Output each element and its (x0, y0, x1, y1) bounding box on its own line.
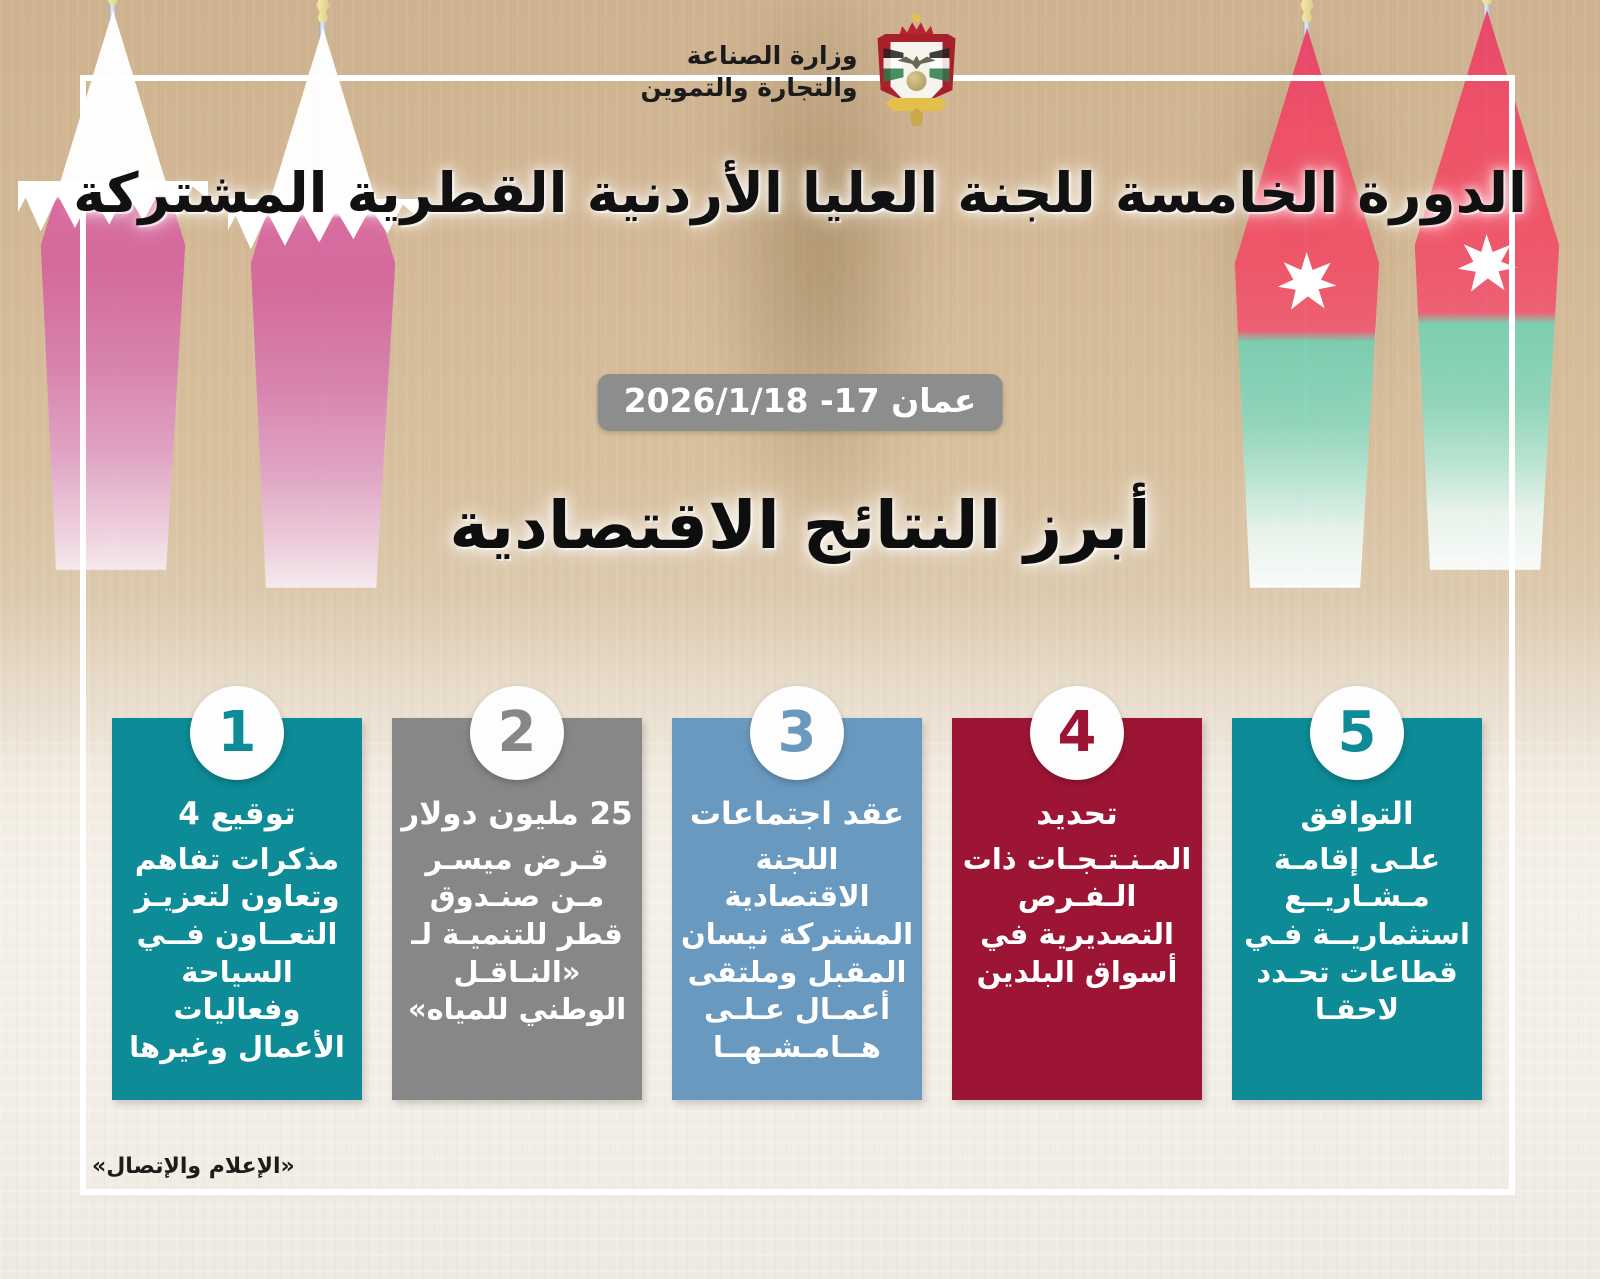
card-description: المـنـتـجـات ذات الـفـرص التصديرية في أس… (960, 841, 1194, 992)
result-card-3[interactable]: 3 عقد اجتماعات اللجنة الاقتصادية المشترك… (672, 718, 922, 1100)
infographic-poster: وزارة الصناعة والتجارة والتموين الدورة ا… (0, 0, 1600, 1279)
arab-revolt-flag-right (929, 48, 949, 82)
jordan-coat-of-arms-icon (873, 18, 959, 126)
card-number-badge: 2 (470, 686, 564, 780)
page-title: الدورة الخامسة للجنة العليا الأردنية الق… (0, 158, 1600, 230)
card-headline: تحديد (960, 796, 1194, 833)
result-card-1[interactable]: 1 توقيع 4 مذكرات تفاهم وتعاون لتعزيـز ال… (112, 718, 362, 1100)
result-card-5[interactable]: 5 التوافق علـى إقامـة مـشـاريــع استثمار… (1232, 718, 1482, 1100)
card-description: مذكرات تفاهم وتعاون لتعزيـز التعــاون فـ… (120, 841, 354, 1067)
card-number-badge: 1 (190, 686, 284, 780)
result-card-2[interactable]: 2 25 مليون دولار قـرض ميسـر مـن صنـدوق ق… (392, 718, 642, 1100)
date-location-badge: عمان 17- 2026/1/18 (598, 374, 1003, 431)
card-headline: 25 مليون دولار (400, 796, 634, 833)
card-body: توقيع 4 مذكرات تفاهم وتعاون لتعزيـز التع… (120, 796, 354, 1067)
footer-credit: «الإعلام والإتصال» (92, 1154, 295, 1179)
globe-icon (906, 71, 926, 91)
results-card-row: 1 توقيع 4 مذكرات تفاهم وتعاون لتعزيـز ال… (112, 718, 1482, 1108)
card-description: قـرض ميسـر مـن صنـدوق قطر للتنميـة لـ «ا… (400, 841, 634, 1029)
card-number: 4 (1058, 705, 1097, 761)
card-body: تحديد المـنـتـجـات ذات الـفـرص التصديرية… (960, 796, 1194, 991)
card-number-badge: 5 (1310, 686, 1404, 780)
card-headline: التوافق (1240, 796, 1474, 833)
card-description: اللجنة الاقتصادية المشتركة نيسان المقبل … (680, 841, 914, 1067)
card-description: علـى إقامـة مـشـاريــع استثماريــة فـي ق… (1240, 841, 1474, 1029)
crown-dot (912, 14, 920, 22)
page-subtitle: أبرز النتائج الاقتصادية (0, 487, 1600, 564)
arab-revolt-flag-left (883, 48, 903, 82)
card-number-badge: 4 (1030, 686, 1124, 780)
card-number: 2 (498, 705, 537, 761)
ministry-name: وزارة الصناعة والتجارة والتموين (641, 40, 858, 104)
card-body: 25 مليون دولار قـرض ميسـر مـن صنـدوق قطر… (400, 796, 634, 1029)
card-number: 5 (1338, 705, 1377, 761)
card-headline: توقيع 4 (120, 796, 354, 833)
card-number: 3 (778, 705, 817, 761)
ministry-lockup: وزارة الصناعة والتجارة والتموين (641, 18, 960, 126)
card-body: عقد اجتماعات اللجنة الاقتصادية المشتركة … (680, 796, 914, 1067)
card-headline: عقد اجتماعات (680, 796, 914, 833)
card-body: التوافق علـى إقامـة مـشـاريــع استثماريـ… (1240, 796, 1474, 1029)
card-number-badge: 3 (750, 686, 844, 780)
result-card-4[interactable]: 4 تحديد المـنـتـجـات ذات الـفـرص التصدير… (952, 718, 1202, 1100)
card-number: 1 (218, 705, 257, 761)
